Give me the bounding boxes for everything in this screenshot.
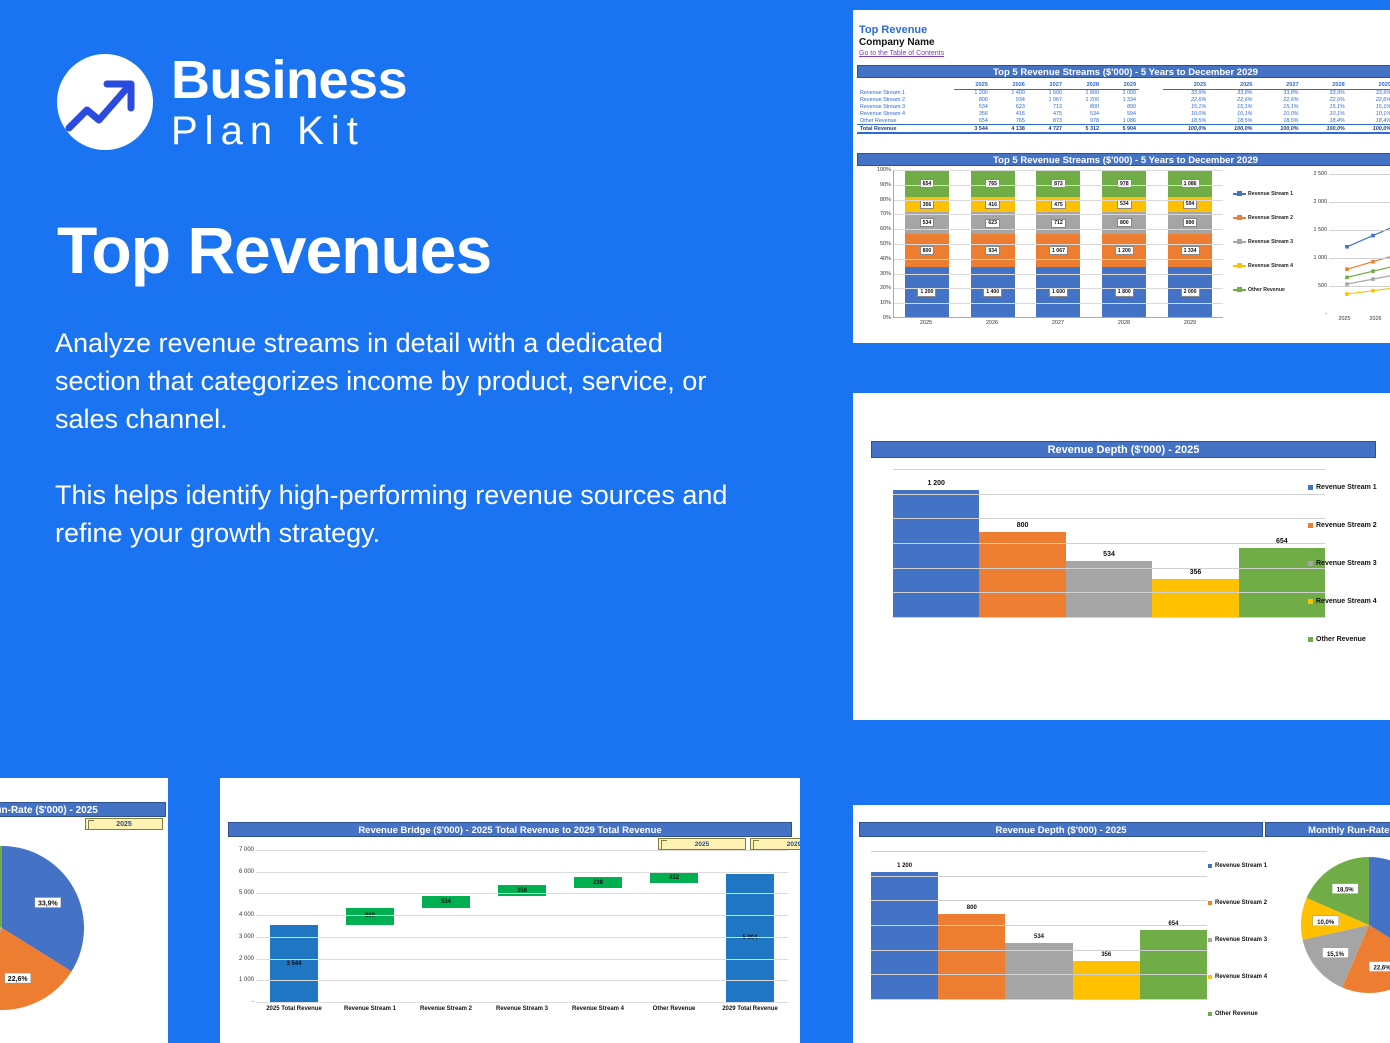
run-rate-pie-chart: 33,9%22,6%15,1%10,0%18,5% xyxy=(0,846,84,1010)
legend-item: Revenue Stream 1 xyxy=(1233,182,1305,206)
line-chart-legend: Revenue Stream 1Revenue Stream 2Revenue … xyxy=(1233,182,1305,302)
x-axis-label: 2029 Total Revenue xyxy=(712,1006,788,1012)
bar-value-label: 800 xyxy=(1117,218,1132,227)
x-axis-label: 2025 Total Revenue xyxy=(256,1006,332,1012)
table-row: Revenue Stream 353462371280089015,1%15,1… xyxy=(857,104,1390,111)
sheet-title: Top Revenue xyxy=(859,24,1390,36)
bar-value-label: 712 xyxy=(1051,219,1066,228)
logo-text-line2: Plan Kit xyxy=(171,111,407,151)
svg-text:33,9%: 33,9% xyxy=(38,901,59,908)
svg-text:15,1%: 15,1% xyxy=(1327,952,1345,958)
x-axis-label: 2026 xyxy=(970,320,1014,326)
waterfall-column: 5 904 xyxy=(712,850,788,1002)
bar-value-label: 873 xyxy=(1051,179,1066,188)
trend-arrow-up-icon xyxy=(57,54,153,150)
bar-value-label: 978 xyxy=(1117,179,1132,188)
x-axis-label: Revenue Stream 4 xyxy=(560,1006,636,1012)
run-rate-title: Run-Rate ($'000) - 2025 xyxy=(0,802,166,817)
svg-text:10,0%: 10,0% xyxy=(1317,920,1335,926)
bar-value-label: 356 xyxy=(1101,952,1111,958)
legend-item: Revenue Stream 3 xyxy=(1233,230,1305,254)
hero-section: Business Plan Kit Top Revenues Analyze r… xyxy=(0,0,820,760)
bar-value-label: 654 xyxy=(920,179,935,188)
bar-value-label: 800 xyxy=(920,246,935,255)
waterfall-column: 432 xyxy=(636,850,712,1002)
bar-value-label: 1 086 xyxy=(1181,179,1200,188)
legend-item: Other Revenue xyxy=(1233,278,1305,302)
brand-logo: Business Plan Kit xyxy=(57,53,407,151)
bar-value-label: 534 xyxy=(1117,200,1132,209)
bar-value-label: 1 200 xyxy=(897,863,912,869)
table-row: Other Revenue6547658739781 08618,5%18,5%… xyxy=(857,117,1390,124)
legend-item: Other Revenue xyxy=(1208,995,1318,1032)
x-axis-label: 2025 xyxy=(1339,316,1351,322)
table-header-banner: Top 5 Revenue Streams ($'000) - 5 Years … xyxy=(857,65,1390,78)
revenue-depth-panel: Revenue Depth ($'000) - 2025 1 200800534… xyxy=(853,393,1390,720)
legend-item: Revenue Stream 2 xyxy=(1308,506,1390,544)
bar-value-label: 3 544 xyxy=(286,961,301,967)
x-axis-label: Revenue Stream 3 xyxy=(484,1006,560,1012)
hero-paragraph-2: This helps identify high-performing reve… xyxy=(55,477,735,553)
bar-value-label: 356 xyxy=(920,200,935,209)
revenue-depth-runrate-panel: Revenue Depth ($'000) - 2025 Monthly Run… xyxy=(853,805,1390,1043)
svg-text:22,6%: 22,6% xyxy=(8,976,29,983)
waterfall-column: 238 xyxy=(560,850,636,1002)
legend-item: Revenue Stream 4 xyxy=(1308,582,1390,620)
br-depth-title: Revenue Depth ($'000) - 2025 xyxy=(859,822,1263,837)
bar-value-label: 416 xyxy=(985,200,1000,209)
waterfall-chart: -1 0002 0003 0004 0005 0006 0007 000 3 5… xyxy=(224,850,796,1040)
legend-item: Revenue Stream 2 xyxy=(1233,206,1305,230)
bar-value-label: 890 xyxy=(1183,218,1198,227)
bar-value-label: 765 xyxy=(985,179,1000,188)
waterfall-column: 3 544 xyxy=(256,850,332,1002)
x-axis-label: 2029 xyxy=(1168,320,1212,326)
legend-item: Revenue Stream 4 xyxy=(1233,254,1305,278)
table-of-contents-link[interactable]: Go to the Table of Contents xyxy=(859,50,1390,57)
bar-value-label: 238 xyxy=(593,880,603,886)
top-revenue-sheet-panel: Top Revenue Company Name Go to the Table… xyxy=(853,10,1390,343)
svg-text:22,6%: 22,6% xyxy=(1374,966,1390,972)
bar-value-label: 534 xyxy=(1103,551,1115,558)
table-row: Revenue Stream 435641647553459410,0%10,1… xyxy=(857,110,1390,117)
revenue-depth-chart: 1 200800534356654 xyxy=(863,461,1333,641)
br-runrate-pie-chart: 33,9%22,6%15,1%10,0%18,5% xyxy=(1301,857,1390,993)
bar-value-label: 594 xyxy=(1183,200,1198,209)
bar-value-label: 623 xyxy=(985,219,1000,228)
br-depth-chart: 1 200800534356654 xyxy=(853,841,1213,1013)
waterfall-column: 356 xyxy=(484,850,560,1002)
bar-value-label: 534 xyxy=(1034,934,1044,940)
stacked-bar-chart: 0%10%20%30%40%50%60%70%80%90%100% 1 2008… xyxy=(859,170,1229,342)
page-title: Top Revenues xyxy=(57,212,491,288)
bar-value-label: 432 xyxy=(669,875,679,881)
x-axis-label: 2027 xyxy=(1036,320,1080,326)
bar-value-label: 534 xyxy=(441,899,451,905)
br-runrate-title: Monthly Run-Rate ($'000) xyxy=(1265,822,1390,837)
legend-item: Revenue Stream 3 xyxy=(1308,544,1390,582)
sheet-header: Top Revenue Company Name Go to the Table… xyxy=(853,10,1390,57)
bar-value-label: 800 xyxy=(1017,522,1029,529)
table-row: Revenue Stream 28009341 0671 2001 33422,… xyxy=(857,97,1390,104)
bar-value-label: 800 xyxy=(967,905,977,911)
bar-value-label: 934 xyxy=(985,246,1000,255)
revenue-depth-legend: Revenue Stream 1Revenue Stream 2Revenue … xyxy=(1308,468,1390,658)
table-row: Revenue Stream 11 2001 4001 6001 8002 00… xyxy=(857,90,1390,97)
x-axis-label: Revenue Stream 2 xyxy=(408,1006,484,1012)
chart-header-banner: Top 5 Revenue Streams ($'000) - 5 Years … xyxy=(857,153,1390,166)
legend-item: Other Revenue xyxy=(1308,620,1390,658)
table-total-row: Total Revenue3 5444 1384 7275 3125 90410… xyxy=(857,124,1390,133)
year-to-selector[interactable]: 2029 xyxy=(750,838,800,850)
monthly-run-rate-panel-left: Run-Rate ($'000) - 2025 2025 33,9%22,6%1… xyxy=(0,778,168,1043)
hero-paragraph-1: Analyze revenue streams in detail with a… xyxy=(55,325,735,438)
revenue-trend-line-chart: Revenue Stream 1Revenue Stream 2Revenue … xyxy=(1233,168,1390,343)
revenue-bridge-title: Revenue Bridge ($'000) - 2025 Total Reve… xyxy=(228,822,792,837)
revenue-depth-title: Revenue Depth ($'000) - 2025 xyxy=(871,441,1376,458)
x-axis-label: Other Revenue xyxy=(636,1006,712,1012)
bar-value-label: 1 200 xyxy=(1115,246,1134,255)
bar-value-label: 475 xyxy=(1051,200,1066,209)
x-axis-label: 2026 xyxy=(1370,316,1382,322)
svg-text:18,5%: 18,5% xyxy=(1337,888,1355,894)
legend-item: Revenue Stream 1 xyxy=(1308,468,1390,506)
bar-value-label: 534 xyxy=(920,218,935,227)
x-axis-label: 2028 xyxy=(1102,320,1146,326)
bar-value-label: 1 334 xyxy=(1181,246,1200,255)
bar-value-label: 356 xyxy=(1190,569,1202,576)
revenue-bridge-panel: Revenue Bridge ($'000) - 2025 Total Reve… xyxy=(220,778,800,1043)
bar-value-label: 1 067 xyxy=(1049,246,1068,255)
year-from-selector[interactable]: 2025 xyxy=(658,838,746,850)
waterfall-column: 800 xyxy=(332,850,408,1002)
bar-value-label: 5 904 xyxy=(742,935,757,941)
x-axis-label: Revenue Stream 1 xyxy=(332,1006,408,1012)
waterfall-column: 534 xyxy=(408,850,484,1002)
company-name: Company Name xyxy=(859,37,1390,48)
x-axis-label: 2025 xyxy=(904,320,948,326)
logo-text-line1: Business xyxy=(171,53,407,107)
revenue-streams-table: 2025202620272028202920252026202720282029… xyxy=(857,82,1390,134)
year-selector[interactable]: 2025 xyxy=(85,818,163,830)
bar-value-label: 1 200 xyxy=(927,480,945,487)
